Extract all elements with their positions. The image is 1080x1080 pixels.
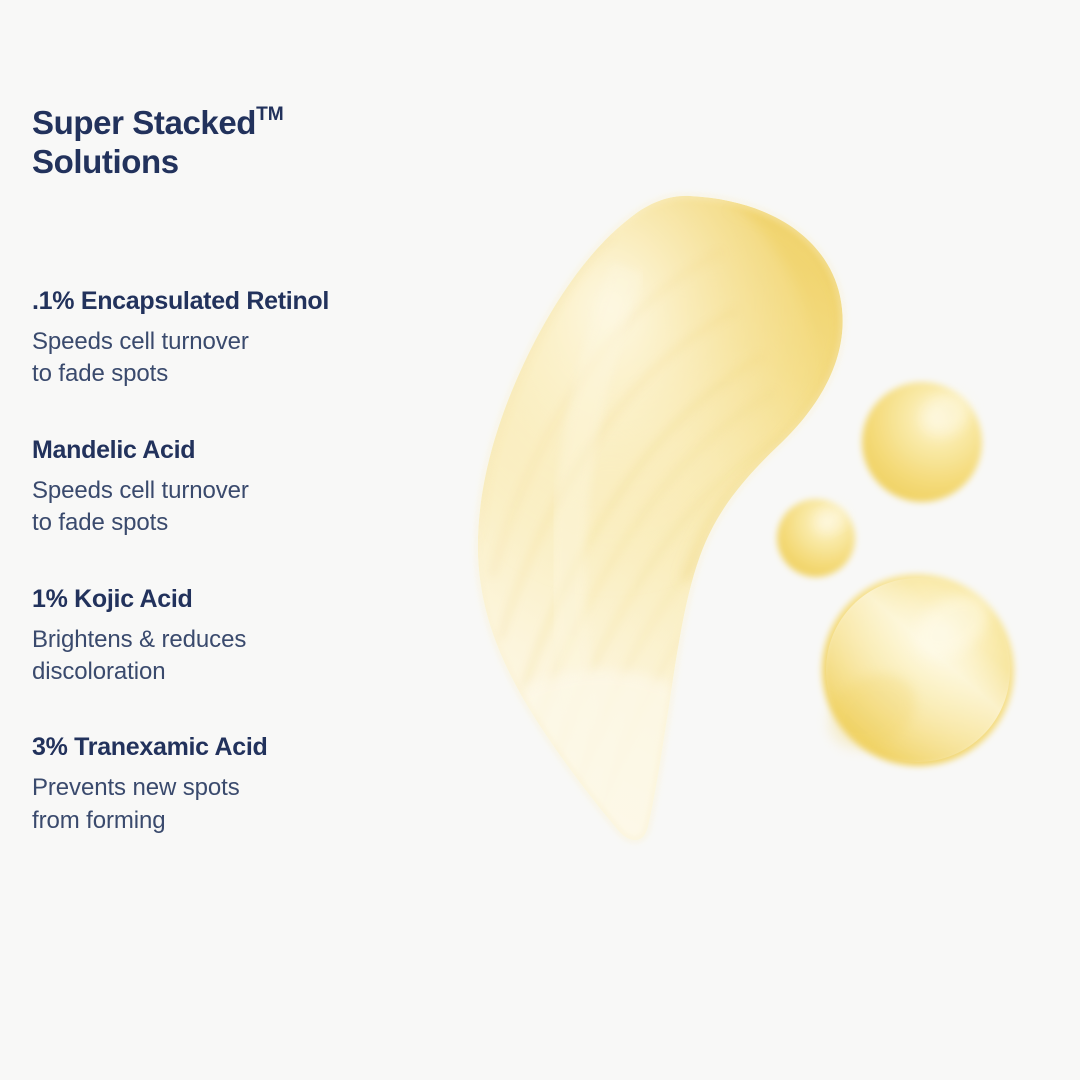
product-ingredient-card: Super StackedTMSolutions .1% Encapsulate… xyxy=(0,0,1080,1080)
ingredient-list: .1% Encapsulated Retinol Speeds cell tur… xyxy=(32,286,452,837)
page-title-line1: Super Stacked xyxy=(32,104,256,141)
ingredient-name: 1% Kojic Acid xyxy=(32,584,452,614)
droplet-medium xyxy=(862,382,982,502)
ingredient-description: Speeds cell turnover to fade spots xyxy=(32,326,452,391)
trademark-symbol: TM xyxy=(256,104,284,125)
list-item: .1% Encapsulated Retinol Speeds cell tur… xyxy=(32,286,452,391)
list-item: Mandelic Acid Speeds cell turnover to fa… xyxy=(32,435,452,540)
page-title: Super StackedTMSolutions xyxy=(32,104,452,181)
list-item: 1% Kojic Acid Brightens & reduces discol… xyxy=(32,584,452,689)
list-item: 3% Tranexamic Acid Prevents new spots fr… xyxy=(32,732,452,837)
droplet-small xyxy=(777,499,855,577)
ingredient-description: Speeds cell turnover to fade spots xyxy=(32,475,452,540)
ingredient-name: 3% Tranexamic Acid xyxy=(32,732,452,762)
ingredient-name: .1% Encapsulated Retinol xyxy=(32,286,452,316)
ingredient-description: Prevents new spots from forming xyxy=(32,772,452,837)
ingredient-description: Brightens & reduces discoloration xyxy=(32,624,452,689)
droplet-large xyxy=(815,574,1014,766)
text-column: Super StackedTMSolutions .1% Encapsulate… xyxy=(32,104,452,181)
ingredient-name: Mandelic Acid xyxy=(32,435,452,465)
cream-smear xyxy=(450,170,860,910)
page-title-line2: Solutions xyxy=(32,143,179,180)
